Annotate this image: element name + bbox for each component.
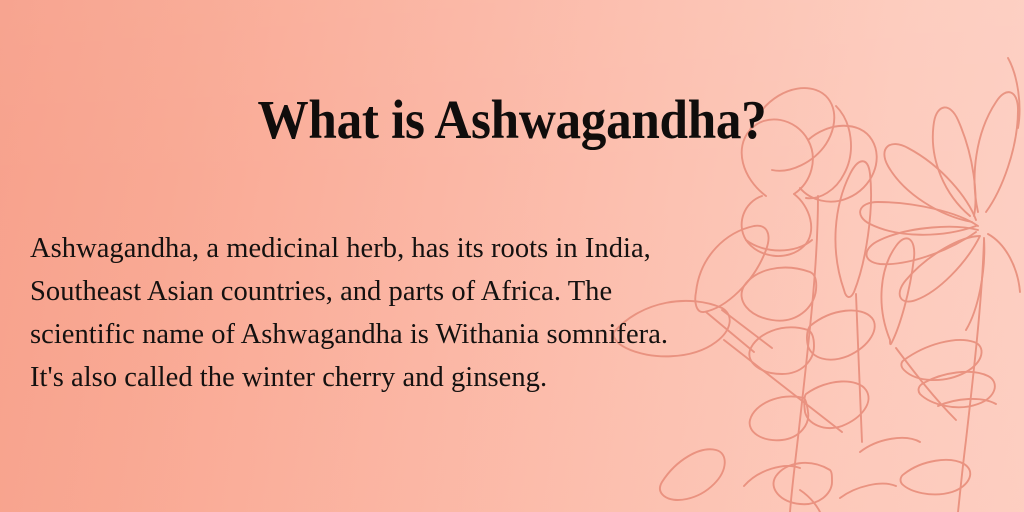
slide-canvas: What is Ashwagandha? Ashwagandha, a medi…: [0, 0, 1024, 512]
text-content: What is Ashwagandha? Ashwagandha, a medi…: [0, 0, 1024, 512]
page-title: What is Ashwagandha?: [36, 91, 988, 149]
body-paragraph: Ashwagandha, a medicinal herb, has its r…: [30, 227, 676, 400]
